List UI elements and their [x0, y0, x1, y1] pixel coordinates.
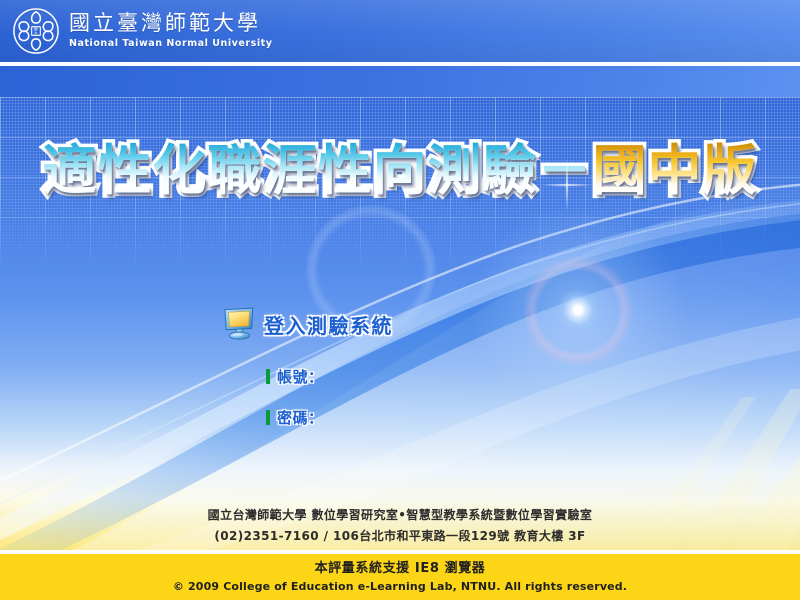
university-name-en: National Taiwan Normal University	[69, 39, 273, 49]
green-bullet-icon	[266, 369, 270, 384]
account-field-label: 帳號：	[277, 366, 324, 387]
password-field-row[interactable]: 密碼：	[222, 407, 542, 428]
header-brand[interactable]: 師 大 國立臺灣師範大學 National Taiwan Normal Univ…	[12, 7, 273, 55]
green-bullet-icon	[266, 410, 270, 425]
hero-title-dash: － －	[538, 142, 593, 200]
hero-title-line: 適性化職涯性向測驗 適性化職涯性向測驗 － － 國中版 國中版	[43, 142, 758, 200]
login-heading-row: 登入測驗系統	[222, 304, 542, 344]
monitor-icon	[222, 307, 258, 341]
page-root: 師 大 國立臺灣師範大學 National Taiwan Normal Univ…	[0, 0, 800, 600]
login-heading-label: 登入測驗系統	[264, 310, 393, 339]
site-header: 師 大 國立臺灣師範大學 National Taiwan Normal Univ…	[0, 0, 800, 62]
header-title-group: 國立臺灣師範大學 National Taiwan Normal Universi…	[69, 13, 273, 49]
lens-flare-core	[558, 290, 598, 330]
hero-title-main: 適性化職涯性向測驗 適性化職涯性向測驗	[43, 142, 538, 200]
password-field-label: 密碼：	[277, 407, 324, 428]
footer-info: 國立台灣師範大學 數位學習研究室•智慧型教學系統暨數位學習實驗室 (02)235…	[0, 505, 800, 547]
hero-title: 適性化職涯性向測驗 適性化職涯性向測驗 － － 國中版 國中版	[0, 142, 800, 200]
svg-text:大: 大	[34, 31, 38, 36]
ntnu-emblem-icon: 師 大	[12, 7, 60, 55]
footer-contact-line: (02)2351-7160 / 106台北市和平東路一段129號 教育大樓 3F	[0, 526, 800, 547]
footer-org-line: 國立台灣師範大學 數位學習研究室•智慧型教學系統暨數位學習實驗室	[0, 505, 800, 526]
header-accent-band	[0, 66, 800, 97]
university-name-cn: 國立臺灣師範大學	[69, 13, 273, 34]
copyright-text: © 2009 College of Education e-Learning L…	[0, 579, 800, 595]
footer-bar: 本評量系統支援 IE8 瀏覽器 © 2009 College of Educat…	[0, 554, 800, 600]
login-panel: 登入測驗系統 帳號： 密碼：	[222, 304, 542, 428]
hero-title-edition: 國中版 國中版	[593, 142, 758, 200]
browser-support-note: 本評量系統支援 IE8 瀏覽器	[0, 554, 800, 577]
account-field-row[interactable]: 帳號：	[222, 366, 542, 387]
